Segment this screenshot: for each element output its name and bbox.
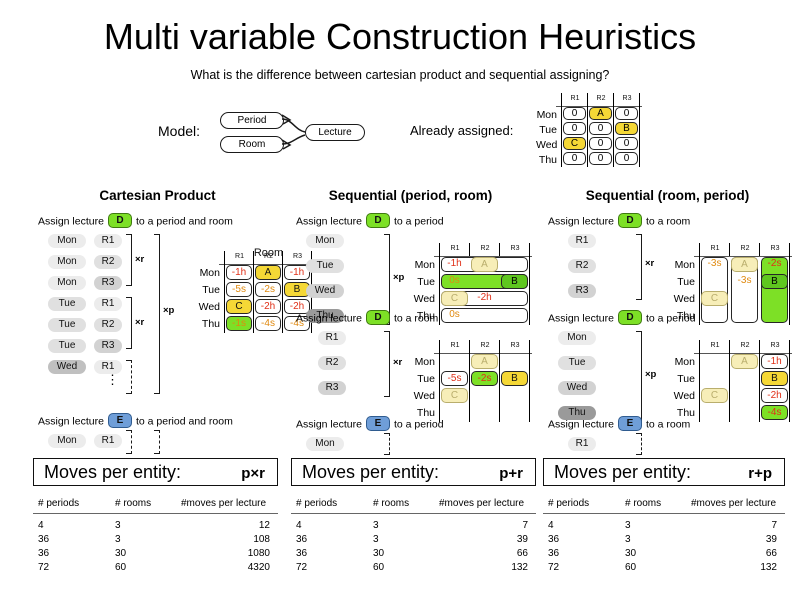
- pair-room-2: R3: [94, 276, 122, 290]
- bracket-r: [636, 234, 642, 300]
- assign-lecture-d-period-row: Assign lectureDto a period: [548, 311, 696, 326]
- cell-periods: 36: [38, 534, 110, 545]
- mul-r: ×r: [645, 258, 654, 269]
- column-header-r1: R1: [440, 341, 470, 350]
- grid-cell: -2s: [255, 282, 281, 297]
- cell-periods: 36: [548, 534, 620, 545]
- grid-cell: -5s: [441, 371, 468, 386]
- bracket-inner-3: [126, 360, 132, 394]
- pair-room-1: R2: [94, 255, 122, 269]
- moves-formula: p×r: [241, 465, 265, 482]
- cell-rooms: 60: [115, 562, 177, 573]
- column-header-r2: R2: [730, 341, 760, 350]
- column-heading: Sequential (period, room): [288, 188, 533, 203]
- mul-p: ×p: [645, 369, 656, 380]
- list2-item-0: R1: [318, 331, 346, 345]
- moves-box-label: Moves per entity:: [302, 462, 439, 483]
- pair-period-5: Tue: [48, 339, 86, 353]
- room-grid-cell: -3s: [701, 257, 728, 272]
- list2-item-2: Wed: [558, 381, 596, 395]
- list2-item-1: Tue: [558, 356, 596, 370]
- cell-moves: 66: [439, 548, 528, 559]
- cell-periods: 4: [38, 520, 110, 531]
- column-header-r2: R2: [470, 244, 500, 253]
- column-header-r1: R1: [225, 252, 254, 261]
- column-heading: Cartesian Product: [30, 188, 285, 203]
- grid-cell: A: [255, 265, 281, 280]
- assign-prefix: Assign lecture: [548, 215, 614, 227]
- column-seq-period-room: Sequential (period, room)Assign lectureD…: [288, 0, 533, 600]
- lecture-chip-D[interactable]: D: [108, 213, 132, 228]
- column-seq-room-period: Sequential (room, period)Assign lectureD…: [540, 0, 795, 600]
- table-header-2: #moves per lecture: [439, 498, 534, 509]
- cell-periods: 72: [38, 562, 110, 573]
- grid-cell: C: [226, 299, 252, 314]
- room-grid-cell: A: [731, 257, 758, 272]
- grid-vline: [789, 340, 790, 422]
- bracket-inner-2: [126, 297, 132, 349]
- cell-rooms: 30: [373, 548, 435, 559]
- pair-room-0: R1: [94, 234, 122, 248]
- tail-period: Mon: [48, 434, 86, 448]
- list1-item-2: R3: [568, 284, 596, 298]
- assign-suffix: to a period: [394, 215, 444, 227]
- assign-prefix: Assign lecture: [296, 418, 362, 430]
- period-grid-cell: 0s: [441, 308, 468, 323]
- row-header-tue: Tue: [665, 372, 695, 386]
- assign-lecture-e-row: Assign lectureEto a period: [296, 417, 444, 432]
- room-grid-cell: -3s: [731, 274, 758, 289]
- assign-lecture-e-row: Assign lectureEto a room: [548, 417, 690, 432]
- period-grid: R1R2R3MonA-1hTueBWedC-2hThu-4s: [665, 337, 790, 417]
- cell-moves: 66: [691, 548, 777, 559]
- assign-prefix: Assign lecture: [548, 312, 614, 324]
- table-header-0: # periods: [548, 498, 620, 509]
- grid-vline-tick: [729, 243, 730, 256]
- room-grid: R1R2R3MonATue-5s-2sBWedCThu: [410, 337, 530, 417]
- row-header-wed: Wed: [410, 292, 435, 306]
- column-header-r3: R3: [500, 341, 530, 350]
- grid-cell: -2s: [471, 371, 498, 386]
- bracket-r: [384, 331, 390, 397]
- assign-suffix: to a room: [646, 215, 690, 227]
- cell-periods: 36: [38, 548, 110, 559]
- column-header-r1: R1: [440, 244, 470, 253]
- tail-item: R1: [568, 437, 596, 451]
- column-header-r3: R3: [760, 341, 790, 350]
- comparison-columns: Cartesian ProductAssign lectureDto a per…: [0, 0, 800, 600]
- list2-item-2: R3: [318, 381, 346, 395]
- column-header-r2: R2: [254, 252, 283, 261]
- assign-prefix: Assign lecture: [296, 215, 362, 227]
- row-header-mon: Mon: [410, 355, 435, 369]
- cell-periods: 36: [296, 548, 368, 559]
- mul-r-2: ×r: [135, 317, 144, 328]
- table-header-2: #moves per lecture: [181, 498, 276, 509]
- grid-vline: [729, 340, 730, 422]
- row-header-wed: Wed: [665, 389, 695, 403]
- column-header-r2: R2: [470, 341, 500, 350]
- list1-item-1: Tue: [306, 259, 344, 273]
- row-header-tue: Tue: [410, 372, 435, 386]
- moves-table: # periods# rooms#moves per lecture437363…: [543, 498, 785, 588]
- column-header-r2: R2: [730, 244, 760, 253]
- row-header-mon: Mon: [665, 355, 695, 369]
- assign-lecture-e-row: Assign lectureEto a period and room: [38, 414, 233, 429]
- assign-prefix: Assign lecture: [38, 415, 104, 427]
- assign-suffix: to a period and room: [136, 415, 233, 427]
- grid-vline-tick: [469, 243, 470, 256]
- cell-rooms: 60: [625, 562, 687, 573]
- assign-lecture-d-room-row: Assign lectureDto a room: [296, 311, 438, 326]
- lecture-chip-D[interactable]: D: [366, 310, 390, 325]
- room-grid-cell: C: [701, 291, 728, 306]
- moves-formula: r+p: [748, 465, 772, 482]
- assign-suffix: to a period and room: [136, 215, 233, 227]
- moves-box: Moves per entity:r+p: [543, 458, 785, 486]
- table-rule: [543, 513, 785, 514]
- assign-prefix: Assign lecture: [38, 215, 104, 227]
- table-header-2: #moves per lecture: [691, 498, 783, 509]
- mul-r-1: ×r: [135, 254, 144, 265]
- column-header-r3: R3: [760, 244, 790, 253]
- grid-vline: [699, 243, 700, 325]
- table-header-0: # periods: [296, 498, 368, 509]
- grid-vline: [529, 340, 530, 422]
- list2-item-0: Mon: [558, 331, 596, 345]
- assign-suffix: to a room: [646, 418, 690, 430]
- grid-cell: -1h: [226, 265, 252, 280]
- period-grid: R1R2R3Mon-1hATue0sBWedC-2hThu0s: [410, 240, 530, 320]
- cell-moves: 132: [439, 562, 528, 573]
- grid-cell: -5s: [226, 282, 252, 297]
- row-header-tue: Tue: [665, 275, 695, 289]
- period-grid-cell: C: [441, 291, 468, 306]
- grid-vline: [499, 340, 500, 422]
- row-header-tue: Tue: [410, 275, 435, 289]
- cell-rooms: 30: [115, 548, 177, 559]
- cell-periods: 36: [548, 548, 620, 559]
- grid-cell: C: [701, 388, 728, 403]
- grid-cell: A: [731, 354, 758, 369]
- cell-periods: 4: [296, 520, 368, 531]
- row-header-mon: Mon: [195, 266, 220, 280]
- column-heading: Sequential (room, period): [540, 188, 795, 203]
- assign-suffix: to a period: [646, 312, 696, 324]
- pair-period-4: Tue: [48, 318, 86, 332]
- cell-moves: 7: [691, 520, 777, 531]
- tail-room: R1: [94, 434, 122, 448]
- moves-box: Moves per entity:p×r: [33, 458, 278, 486]
- lecture-chip-D[interactable]: D: [366, 213, 390, 228]
- cell-moves: 4320: [181, 562, 270, 573]
- room-grid-cell: B: [761, 274, 788, 289]
- lecture-chip-E[interactable]: E: [618, 416, 642, 431]
- lecture-chip-D[interactable]: D: [618, 213, 642, 228]
- cell-rooms: 3: [115, 520, 177, 531]
- cell-rooms: 3: [625, 520, 687, 531]
- grid-vline: [469, 340, 470, 422]
- result-grid: RoomR1R2R3Mon-1hA-1hTue-5s-2sBWedC-2h-2h…: [195, 248, 290, 338]
- pair-period-2: Mon: [48, 276, 86, 290]
- table-rule: [33, 513, 278, 514]
- cell-rooms: 3: [373, 534, 435, 545]
- grid-vline: [224, 251, 225, 333]
- mul-p: ×p: [393, 272, 404, 283]
- tail-item: Mon: [306, 437, 344, 451]
- list1-item-0: R1: [568, 234, 596, 248]
- bracket-tail: [636, 433, 642, 455]
- row-header-thu: Thu: [195, 317, 220, 331]
- cell-periods: 72: [296, 562, 368, 573]
- grid-vline: [529, 243, 530, 325]
- grid-cell: A: [471, 354, 498, 369]
- grid-vline: [439, 340, 440, 422]
- row-header-wed: Wed: [665, 292, 695, 306]
- pair-room-4: R2: [94, 318, 122, 332]
- grid-vline: [759, 340, 760, 422]
- table-header-0: # periods: [38, 498, 110, 509]
- row-header-mon: Mon: [410, 258, 435, 272]
- ellipsis-vertical: ⋮: [106, 376, 119, 384]
- cell-rooms: 3: [115, 534, 177, 545]
- cell-periods: 72: [548, 562, 620, 573]
- cell-moves: 7: [439, 520, 528, 531]
- grid-vline-tick: [499, 243, 500, 256]
- grid-cell: -4s: [761, 405, 788, 420]
- grid-cell: -4s: [255, 316, 281, 331]
- cell-rooms: 3: [625, 534, 687, 545]
- assign-lecture-d-room-row: Assign lectureDto a room: [548, 214, 690, 229]
- moves-formula: p+r: [499, 465, 523, 482]
- grid-cell: -2h: [255, 299, 281, 314]
- bracket-inner-1: [126, 234, 132, 286]
- list1-item-0: Mon: [306, 234, 344, 248]
- assign-lecture-d-period-row: Assign lectureDto a period: [296, 214, 444, 229]
- bracket-tail-2: [154, 430, 160, 454]
- row-header-wed: Wed: [410, 389, 435, 403]
- mul-p: ×p: [163, 305, 174, 316]
- period-grid-cell: -2h: [471, 291, 498, 306]
- moves-box-label: Moves per entity:: [554, 462, 691, 483]
- grid-cell: B: [501, 371, 528, 386]
- grid-cell: B: [761, 371, 788, 386]
- row-header-mon: Mon: [665, 258, 695, 272]
- cell-periods: 36: [296, 534, 368, 545]
- grid-cell: -1h: [761, 354, 788, 369]
- period-grid-cell: B: [501, 274, 528, 289]
- pair-room-3: R1: [94, 297, 122, 311]
- list1-item-1: R2: [568, 259, 596, 273]
- assign-lecture-d-row: Assign lectureDto a period and room: [38, 214, 233, 229]
- cell-moves: 132: [691, 562, 777, 573]
- grid-cell: C: [441, 388, 468, 403]
- row-header-tue: Tue: [195, 283, 220, 297]
- bracket-tail: [384, 433, 390, 455]
- cell-rooms: 30: [625, 548, 687, 559]
- list2-item-1: R2: [318, 356, 346, 370]
- grid-vline-tick: [759, 243, 760, 256]
- room-grid-cell: -2s: [761, 257, 788, 272]
- list1-item-2: Wed: [306, 284, 344, 298]
- table-rule: [291, 513, 536, 514]
- moves-table: # periods# rooms#moves per lecture437363…: [291, 498, 536, 588]
- bracket-outer: [154, 234, 160, 394]
- grid-vline: [789, 243, 790, 325]
- cell-moves: 1080: [181, 548, 270, 559]
- moves-table: # periods# rooms#moves per lecture431236…: [33, 498, 278, 588]
- grid-cell: -1s: [226, 316, 252, 331]
- cell-moves: 39: [691, 534, 777, 545]
- column-header-r3: R3: [500, 244, 530, 253]
- grid-vline: [282, 251, 283, 333]
- pair-room-5: R3: [94, 339, 122, 353]
- period-grid-cell: A: [471, 257, 498, 272]
- assign-prefix: Assign lecture: [296, 312, 362, 324]
- period-grid-cell: 0s: [441, 274, 468, 289]
- row-header-wed: Wed: [195, 300, 220, 314]
- cell-rooms: 3: [373, 520, 435, 531]
- table-header-1: # rooms: [373, 498, 435, 509]
- assign-suffix: to a room: [394, 312, 438, 324]
- bracket-p: [636, 331, 642, 422]
- moves-box: Moves per entity:p+r: [291, 458, 536, 486]
- grid-vline: [253, 251, 254, 333]
- lecture-chip-D[interactable]: D: [618, 310, 642, 325]
- cell-moves: 12: [181, 520, 270, 531]
- column-header-r1: R1: [700, 341, 730, 350]
- pair-period-3: Tue: [48, 297, 86, 311]
- cell-periods: 4: [548, 520, 620, 531]
- column-header-r1: R1: [700, 244, 730, 253]
- moves-box-label: Moves per entity:: [44, 462, 181, 483]
- lecture-chip-E[interactable]: E: [366, 416, 390, 431]
- assign-suffix: to a period: [394, 418, 444, 430]
- pair-period-6: Wed: [48, 360, 86, 374]
- lecture-chip-E[interactable]: E: [108, 413, 132, 428]
- grid-vline: [439, 243, 440, 325]
- pair-period-1: Mon: [48, 255, 86, 269]
- assign-prefix: Assign lecture: [548, 418, 614, 430]
- table-header-1: # rooms: [115, 498, 177, 509]
- table-header-1: # rooms: [625, 498, 687, 509]
- grid-vline: [699, 340, 700, 422]
- pair-period-0: Mon: [48, 234, 86, 248]
- mul-r: ×r: [393, 357, 402, 368]
- cell-rooms: 60: [373, 562, 435, 573]
- column-cartesian: Cartesian ProductAssign lectureDto a per…: [30, 0, 285, 600]
- period-grid-cell: -1h: [441, 257, 468, 272]
- bracket-tail-1: [126, 430, 132, 454]
- cell-moves: 39: [439, 534, 528, 545]
- grid-cell: -2h: [761, 388, 788, 403]
- cell-moves: 108: [181, 534, 270, 545]
